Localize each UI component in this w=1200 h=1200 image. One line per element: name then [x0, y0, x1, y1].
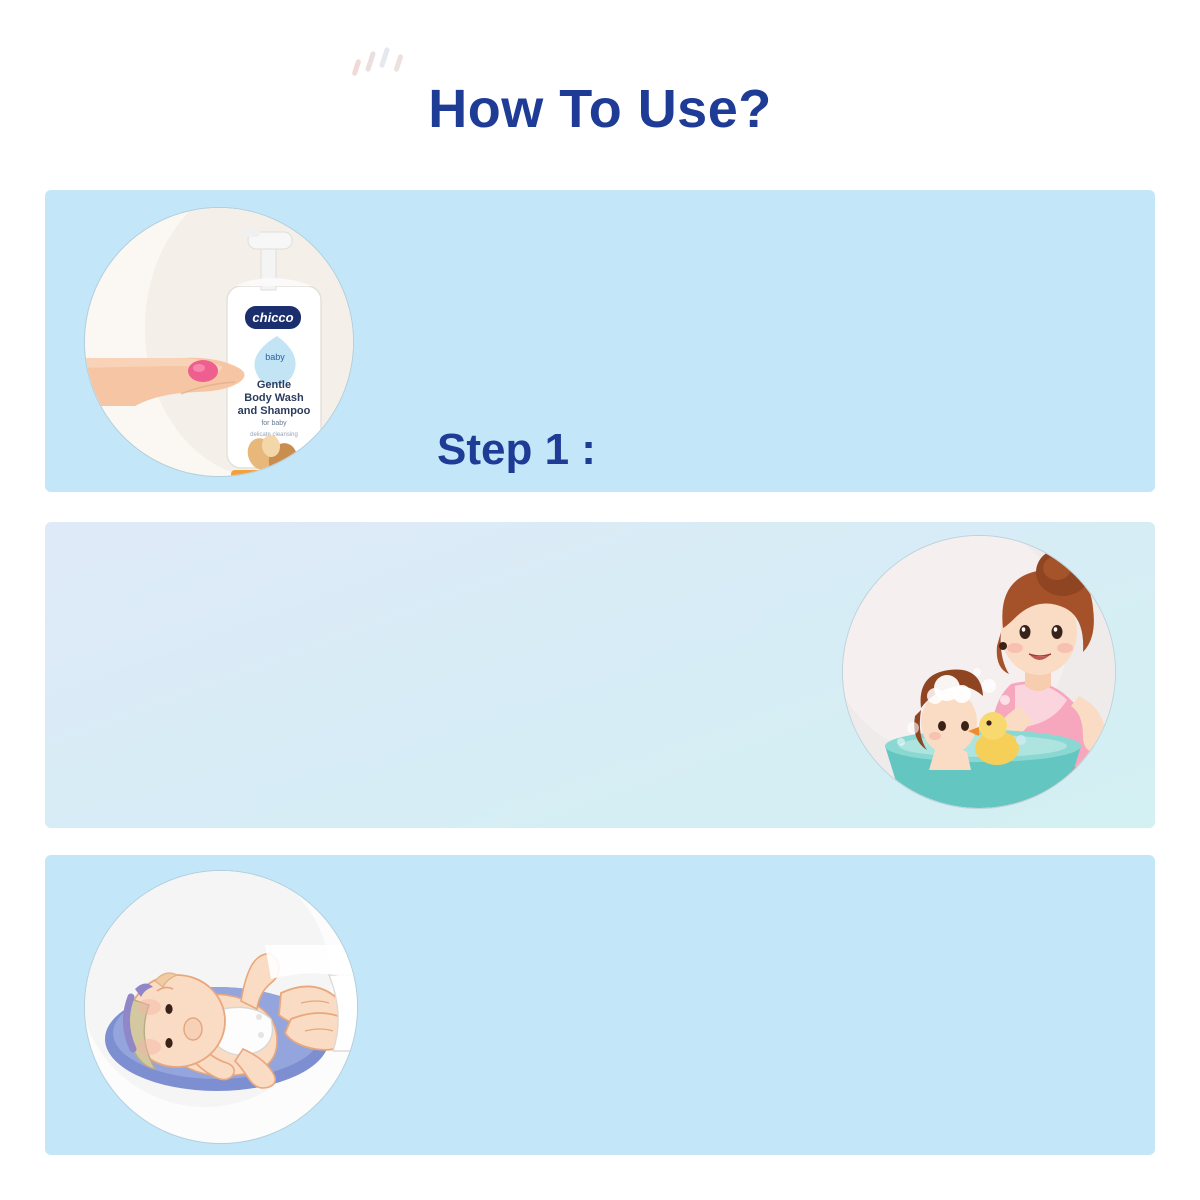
- step-panel-3: Step 3 : Rinse off with water.: [45, 855, 1155, 1155]
- svg-text:chicco: chicco: [252, 310, 293, 325]
- svg-text:for baby: for baby: [261, 420, 287, 427]
- svg-text:Body Wash: Body Wash: [244, 392, 304, 404]
- step-3-illustration: [85, 871, 357, 1143]
- header: How To Use?: [0, 0, 1200, 180]
- sparkle-marks-icon: [352, 45, 412, 83]
- svg-text:and Shampoo: and Shampoo: [238, 405, 311, 417]
- step-1-illustration: chicco baby Gentle Body Wash and Shampoo…: [85, 208, 353, 476]
- step-1-heading: Step 1 :: [437, 428, 596, 472]
- page-title: How To Use?: [0, 82, 1200, 136]
- svg-text:Gentle: Gentle: [257, 379, 291, 391]
- step-panel-2: Step 2 : Apply it to your baby's skin an…: [45, 522, 1155, 828]
- step-2-illustration: [843, 536, 1115, 808]
- svg-text:baby: baby: [265, 352, 285, 362]
- step-panel-1: chicco baby Gentle Body Wash and Shampoo…: [45, 190, 1155, 492]
